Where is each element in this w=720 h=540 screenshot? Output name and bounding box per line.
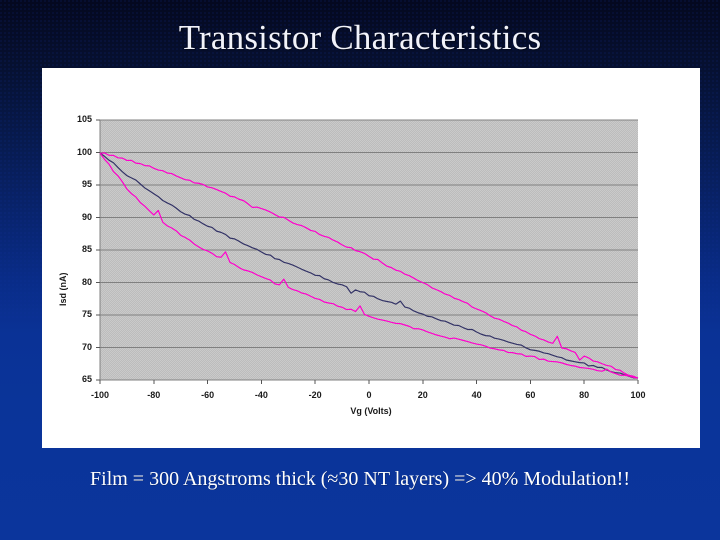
y-tick-label: 65: [42, 374, 92, 384]
y-tick-label: 95: [42, 179, 92, 189]
slide: Transistor Characteristics Isd (nA) Vg (…: [0, 0, 720, 540]
x-tick-label: -60: [183, 390, 233, 400]
page-title: Transistor Characteristics: [0, 18, 720, 58]
y-tick-label: 85: [42, 244, 92, 254]
x-tick-label: 80: [559, 390, 609, 400]
x-tick-label: 0: [344, 390, 394, 400]
x-tick-label: -100: [75, 390, 125, 400]
x-tick-label: -40: [236, 390, 286, 400]
x-tick-label: 40: [452, 390, 502, 400]
x-tick-label: 60: [505, 390, 555, 400]
slide-caption: Film = 300 Angstroms thick (≈30 NT layer…: [0, 468, 720, 491]
chart-panel: Isd (nA) Vg (Volts) 65707580859095100105…: [42, 68, 700, 448]
transistor-characteristics-chart: Isd (nA) Vg (Volts) 65707580859095100105…: [42, 68, 700, 448]
x-tick-label: 20: [398, 390, 448, 400]
y-tick-label: 80: [42, 277, 92, 287]
y-tick-label: 105: [42, 114, 92, 124]
y-tick-label: 70: [42, 342, 92, 352]
y-tick-label: 100: [42, 147, 92, 157]
x-tick-label: 100: [613, 390, 663, 400]
x-tick-label: -20: [290, 390, 340, 400]
x-tick-label: -80: [129, 390, 179, 400]
y-tick-label: 75: [42, 309, 92, 319]
y-tick-label: 90: [42, 212, 92, 222]
